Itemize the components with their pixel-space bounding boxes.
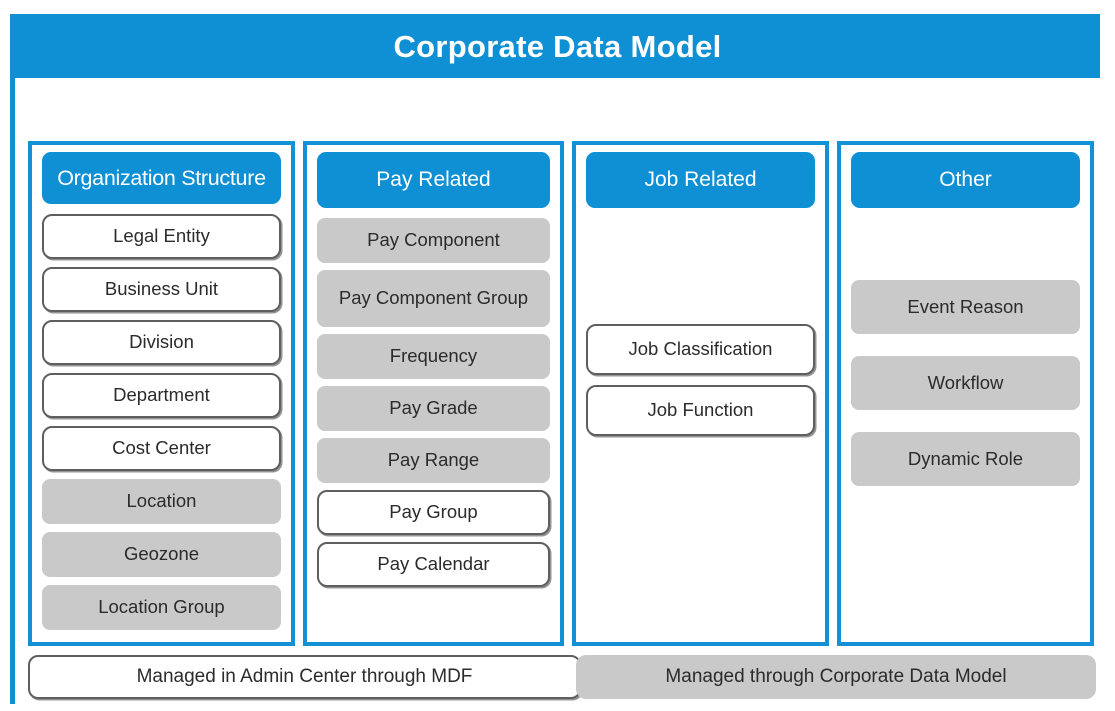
entity-chip-dynamic-role[interactable]: Dynamic Role [851, 432, 1080, 486]
category-columns: Organization Structure Legal Entity Busi… [28, 141, 1094, 646]
column-header-organization-structure: Organization Structure [42, 152, 281, 204]
category-column-other: Other Event Reason Workflow Dynamic Role [837, 141, 1094, 646]
entity-chip-job-function[interactable]: Job Function [586, 385, 815, 436]
entity-chip-workflow[interactable]: Workflow [851, 356, 1080, 410]
diagram-title-bar: Corporate Data Model [15, 14, 1100, 78]
column-header-job-related: Job Related [586, 152, 815, 208]
entity-chip-location-group[interactable]: Location Group [42, 585, 281, 630]
entity-chip-location[interactable]: Location [42, 479, 281, 524]
frame-left-rail [10, 14, 15, 704]
legend-managed-in-admin-center: Managed in Admin Center through MDF [28, 655, 581, 699]
chip-stack-job-related: Job Classification Job Function [586, 214, 815, 634]
column-header-pay-related: Pay Related [317, 152, 550, 208]
chip-stack-other: Event Reason Workflow Dynamic Role [851, 214, 1080, 634]
entity-chip-cost-center[interactable]: Cost Center [42, 426, 281, 471]
entity-chip-department[interactable]: Department [42, 373, 281, 418]
entity-chip-division[interactable]: Division [42, 320, 281, 365]
entity-chip-pay-component[interactable]: Pay Component [317, 218, 550, 263]
entity-chip-frequency[interactable]: Frequency [317, 334, 550, 379]
entity-chip-business-unit[interactable]: Business Unit [42, 267, 281, 312]
legend-managed-through-cdm: Managed through Corporate Data Model [576, 655, 1096, 699]
category-column-job-related: Job Related Job Classification Job Funct… [572, 141, 829, 646]
legend: Managed in Admin Center through MDF Mana… [28, 655, 1098, 701]
entity-chip-legal-entity[interactable]: Legal Entity [42, 214, 281, 259]
entity-chip-geozone[interactable]: Geozone [42, 532, 281, 577]
category-column-pay-related: Pay Related Pay Component Pay Component … [303, 141, 564, 646]
page-title: Corporate Data Model [393, 31, 721, 62]
column-header-other: Other [851, 152, 1080, 208]
diagram-canvas: Corporate Data Model Organization Struct… [0, 0, 1115, 711]
entity-chip-pay-calendar[interactable]: Pay Calendar [317, 542, 550, 587]
entity-chip-job-classification[interactable]: Job Classification [586, 324, 815, 375]
entity-chip-event-reason[interactable]: Event Reason [851, 280, 1080, 334]
entity-chip-pay-grade[interactable]: Pay Grade [317, 386, 550, 431]
chip-stack-organization-structure: Legal Entity Business Unit Division Depa… [42, 210, 281, 634]
entity-chip-pay-group[interactable]: Pay Group [317, 490, 550, 535]
entity-chip-pay-component-group[interactable]: Pay Component Group [317, 270, 550, 327]
entity-chip-pay-range[interactable]: Pay Range [317, 438, 550, 483]
chip-stack-pay-related: Pay Component Pay Component Group Freque… [317, 214, 550, 634]
category-column-organization-structure: Organization Structure Legal Entity Busi… [28, 141, 295, 646]
